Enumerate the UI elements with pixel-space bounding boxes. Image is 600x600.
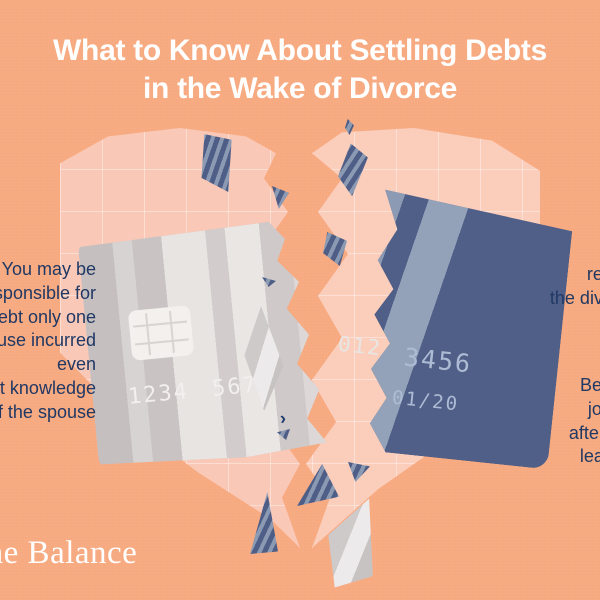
emv-chip-icon — [128, 305, 195, 361]
brand-logo: The Balance — [0, 535, 137, 572]
infographic-canvas: 1234 5678 › 012 3456 01/20 You may be re… — [0, 0, 600, 600]
callout-right-top: Try to get the name of the spouse respon… — [508, 192, 600, 311]
card-navy-number-part-1: 012 — [337, 332, 383, 360]
page-title: What to Know About Settling Debts in the… — [0, 32, 600, 109]
callout-right-bottom: Be careful with joint accounts after the… — [508, 374, 600, 469]
callout-left: You may be responsible for debt only one… — [0, 258, 96, 424]
